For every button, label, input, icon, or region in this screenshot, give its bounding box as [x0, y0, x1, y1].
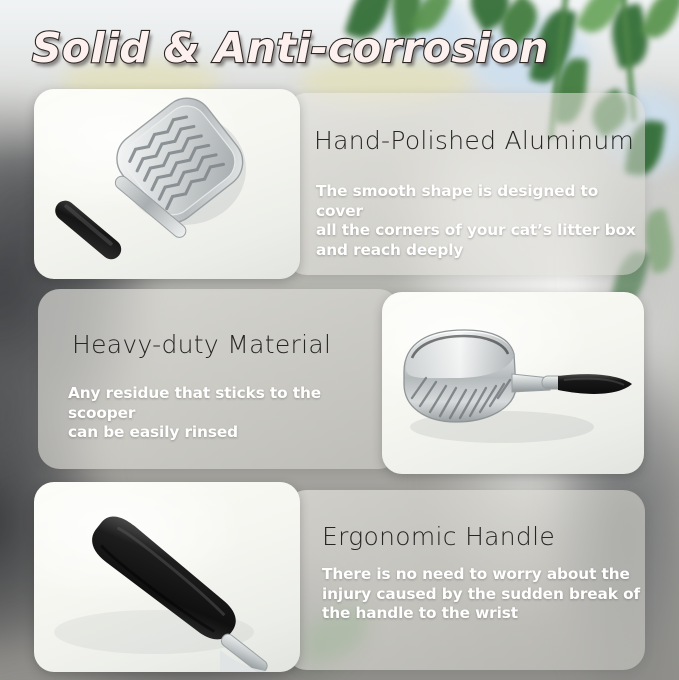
body-line: injury caused by the sudden break of — [322, 585, 642, 605]
page-title: Solid & Anti-corrosion — [32, 24, 549, 72]
body-line: The smooth shape is designed to cover — [316, 182, 636, 221]
product-feature-graphic: Solid & Anti-corrosion — [0, 0, 679, 680]
card-hand-polished-aluminum-body: The smooth shape is designed to cover al… — [316, 182, 636, 260]
card-hand-polished-aluminum-photo — [34, 89, 300, 279]
body-line: can be easily rinsed — [68, 423, 388, 443]
card-heavy-duty-material-photo — [382, 292, 644, 474]
card-hand-polished-aluminum-heading: Hand-Polished Aluminum — [314, 126, 634, 155]
body-line: the handle to the wrist — [322, 604, 642, 624]
body-line: Any residue that sticks to the scooper — [68, 384, 388, 423]
body-line: all the corners of your cat’s litter box — [316, 221, 636, 241]
card-ergonomic-handle-photo — [34, 482, 300, 672]
card-ergonomic-handle-heading: Ergonomic Handle — [322, 522, 555, 551]
card-heavy-duty-material-heading: Heavy-duty Material — [72, 330, 331, 359]
body-line: There is no need to worry about the — [322, 565, 642, 585]
body-line: and reach deeply — [316, 241, 636, 261]
card-ergonomic-handle-body: There is no need to worry about the inju… — [322, 565, 642, 624]
card-heavy-duty-material-body: Any residue that sticks to the scooper c… — [68, 384, 388, 443]
